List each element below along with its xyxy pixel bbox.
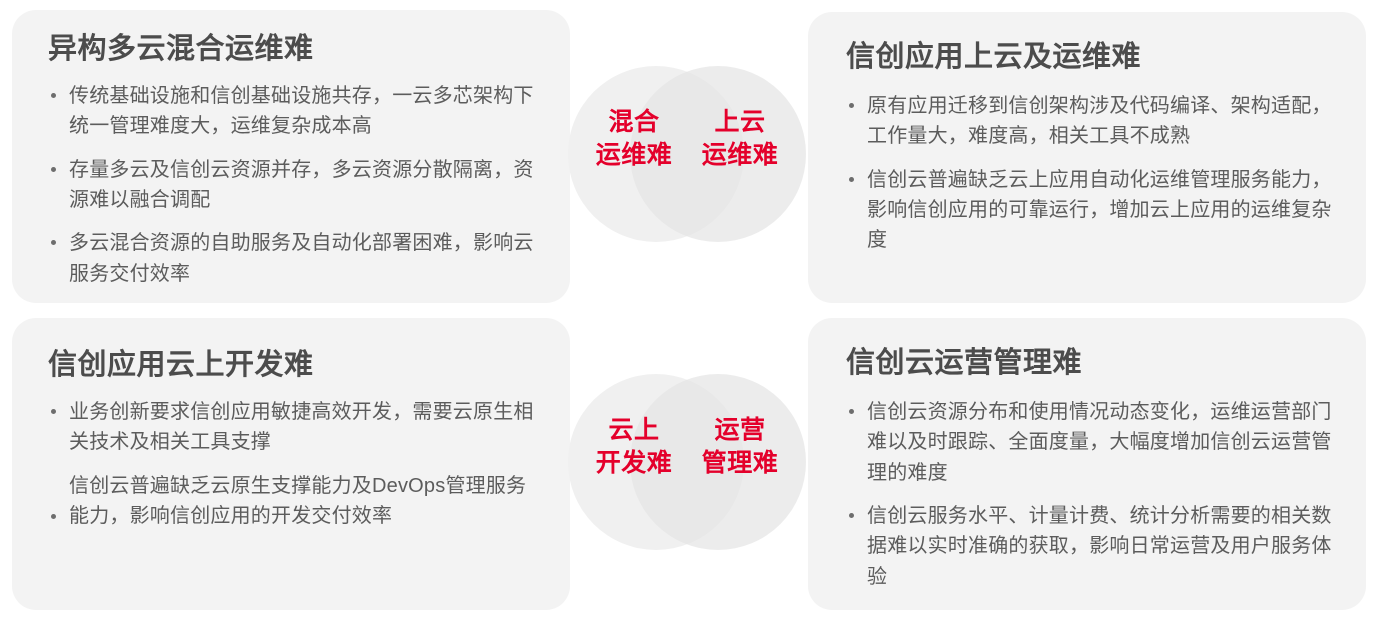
venn-label-line1: 混合 (573, 106, 695, 139)
list-item-text: 信创云普遍缺乏云上应用自动化运维管理服务能力，影响信创应用的可靠运行，增加云上应… (867, 169, 1332, 252)
list-item: 原有应用迁移到信创架构涉及代码编译、架构适配，工作量大，难度高，相关工具不成熟 (846, 91, 1338, 152)
bullet-list: 原有应用迁移到信创架构涉及代码编译、架构适配，工作量大，难度高，相关工具不成熟 … (846, 91, 1338, 256)
challenges-board: 异构多云混合运维难 传统基础设施和信创基础设施共存，一云多芯架构下统一管理难度大… (0, 0, 1378, 620)
card-title: 信创云运营管理难 (846, 346, 1338, 381)
venn-label-oncloud-ops: 上云 运维难 (679, 106, 801, 172)
venn-label-line2: 运维难 (679, 139, 801, 172)
venn-label-hybrid-ops: 混合 运维难 (573, 106, 695, 172)
list-item-text: 信创云资源分布和使用情况动态变化，运维运营部门难以及时跟踪、全面度量，大幅度增加… (867, 401, 1332, 484)
card-title: 信创应用云上开发难 (48, 348, 540, 383)
list-item: 信创云普遍缺乏云原生支撑能力及DevOps管理服务能力，影响信创应用的开发交付效… (48, 471, 540, 532)
list-item: 传统基础设施和信创基础设施共存，一云多芯架构下统一管理难度大，运维复杂成本高 (48, 81, 540, 142)
bullet-list: 业务创新要求信创应用敏捷高效开发，需要云原生相关技术及相关工具支撑 信创云普遍缺… (48, 397, 540, 532)
venn-label-line2: 管理难 (679, 447, 801, 480)
bullet-dot-icon (849, 103, 854, 108)
card-title: 信创应用上云及运维难 (846, 40, 1338, 75)
card-cloud-native-dev: 信创应用云上开发难 业务创新要求信创应用敏捷高效开发，需要云原生相关技术及相关工… (12, 318, 570, 610)
list-item: 信创云资源分布和使用情况动态变化，运维运营部门难以及时跟踪、全面度量，大幅度增加… (846, 397, 1338, 488)
venn-label-operations-mgmt: 运营 管理难 (679, 414, 801, 480)
list-item: 多云混合资源的自助服务及自动化部署困难，影响云服务交付效率 (48, 228, 540, 289)
list-item: 存量多云及信创云资源并存，多云资源分散隔离，资源难以融合调配 (48, 155, 540, 216)
bullet-list: 信创云资源分布和使用情况动态变化，运维运营部门难以及时跟踪、全面度量，大幅度增加… (846, 397, 1338, 592)
bullet-dot-icon (51, 240, 56, 245)
list-item: 业务创新要求信创应用敏捷高效开发，需要云原生相关技术及相关工具支撑 (48, 397, 540, 458)
venn-label-line2: 运维难 (573, 139, 695, 172)
list-item: 信创云服务水平、计量计费、统计分析需要的相关数据难以实时准确的获取，影响日常运营… (846, 501, 1338, 592)
bullet-dot-icon (51, 93, 56, 98)
venn-label-line2: 开发难 (573, 447, 695, 480)
venn-label-line1: 云上 (573, 414, 695, 447)
list-item-text: 信创云服务水平、计量计费、统计分析需要的相关数据难以实时准确的获取，影响日常运营… (867, 505, 1332, 588)
venn-label-cloud-dev: 云上 开发难 (573, 414, 695, 480)
venn-label-line1: 上云 (679, 106, 801, 139)
venn-diagram-top: 混合 运维难 上云 运维难 (568, 66, 806, 242)
list-item-text: 业务创新要求信创应用敏捷高效开发，需要云原生相关技术及相关工具支撑 (69, 401, 534, 453)
bullet-dot-icon (51, 514, 56, 519)
bullet-dot-icon (51, 409, 56, 414)
card-content: 信创云运营管理难 信创云资源分布和使用情况动态变化，运维运营部门难以及时跟踪、全… (808, 318, 1366, 592)
list-item-text: 传统基础设施和信创基础设施共存，一云多芯架构下统一管理难度大，运维复杂成本高 (69, 85, 534, 137)
venn-diagram-bottom: 云上 开发难 运营 管理难 (568, 374, 806, 550)
venn-label-line1: 运营 (679, 414, 801, 447)
list-item-text: 信创云普遍缺乏云原生支撑能力及DevOps管理服务能力，影响信创应用的开发交付效… (69, 475, 526, 527)
list-item-text: 存量多云及信创云资源并存，多云资源分散隔离，资源难以融合调配 (69, 159, 534, 211)
bullet-list: 传统基础设施和信创基础设施共存，一云多芯架构下统一管理难度大，运维复杂成本高 存… (48, 81, 540, 289)
card-content: 信创应用上云及运维难 原有应用迁移到信创架构涉及代码编译、架构适配，工作量大，难… (808, 12, 1366, 256)
card-content: 信创应用云上开发难 业务创新要求信创应用敏捷高效开发，需要云原生相关技术及相关工… (12, 318, 570, 531)
list-item: 信创云普遍缺乏云上应用自动化运维管理服务能力，影响信创应用的可靠运行，增加云上应… (846, 165, 1338, 256)
card-hybrid-multicloud-ops: 异构多云混合运维难 传统基础设施和信创基础设施共存，一云多芯架构下统一管理难度大… (12, 10, 570, 303)
list-item-text: 原有应用迁移到信创架构涉及代码编译、架构适配，工作量大，难度高，相关工具不成熟 (867, 95, 1332, 147)
bullet-dot-icon (849, 513, 854, 518)
bullet-dot-icon (849, 409, 854, 414)
bullet-dot-icon (51, 167, 56, 172)
card-cloud-operations-mgmt: 信创云运营管理难 信创云资源分布和使用情况动态变化，运维运营部门难以及时跟踪、全… (808, 318, 1366, 610)
bullet-dot-icon (849, 177, 854, 182)
card-title: 异构多云混合运维难 (48, 32, 540, 67)
card-content: 异构多云混合运维难 传统基础设施和信创基础设施共存，一云多芯架构下统一管理难度大… (12, 10, 570, 289)
list-item-text: 多云混合资源的自助服务及自动化部署困难，影响云服务交付效率 (69, 232, 534, 284)
card-app-migration-ops: 信创应用上云及运维难 原有应用迁移到信创架构涉及代码编译、架构适配，工作量大，难… (808, 12, 1366, 303)
